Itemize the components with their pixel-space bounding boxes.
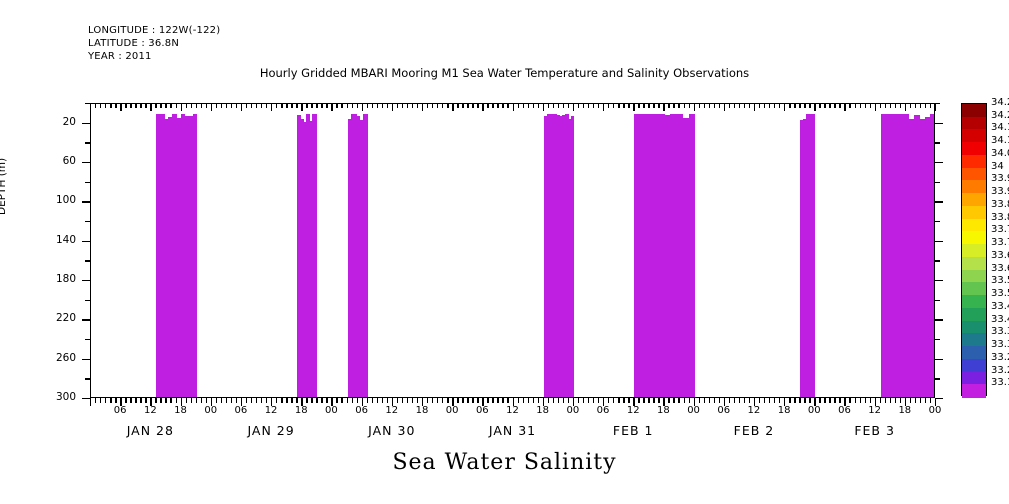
axis-tick <box>875 103 876 111</box>
axis-tick <box>568 398 569 403</box>
axis-tick <box>643 103 644 108</box>
axis-tick <box>326 103 327 108</box>
axis-tick <box>890 103 891 108</box>
axis-tick <box>613 398 614 403</box>
axis-tick <box>623 398 624 403</box>
axis-tick <box>553 103 554 108</box>
hour-tick-label: 18 <box>769 405 799 416</box>
axis-tick <box>849 103 850 108</box>
axis-tick <box>684 398 685 403</box>
axis-tick <box>85 300 90 301</box>
axis-tick <box>160 398 161 403</box>
axis-tick <box>809 398 810 403</box>
axis-tick <box>513 103 514 111</box>
axis-tick <box>437 398 438 403</box>
axis-tick <box>357 398 358 403</box>
plot-area <box>90 103 935 398</box>
colorbar-swatch <box>962 206 986 219</box>
colorbar-swatch <box>962 295 986 308</box>
depth-tick-label: 60 <box>36 155 76 167</box>
axis-tick <box>593 103 594 108</box>
axis-tick <box>870 103 871 108</box>
axis-tick <box>804 103 805 108</box>
latitude-label: LATITUDE : 36.8N <box>88 38 179 49</box>
axis-tick <box>417 103 418 108</box>
axis-tick <box>648 398 649 403</box>
axis-tick <box>407 398 408 403</box>
axis-tick <box>643 398 644 403</box>
axis-tick <box>538 398 539 403</box>
axis-tick <box>85 260 90 261</box>
axis-tick <box>291 103 292 108</box>
axis-tick <box>734 398 735 403</box>
axis-tick <box>231 398 232 403</box>
axis-tick <box>518 398 519 403</box>
hour-tick-label: 06 <box>588 405 618 416</box>
axis-tick <box>658 398 659 403</box>
axis-tick <box>844 103 845 111</box>
axis-tick <box>935 221 940 222</box>
colorbar-tick-label: 33.4 <box>991 314 1009 325</box>
hour-tick-label: 00 <box>196 405 226 416</box>
axis-tick <box>719 103 720 108</box>
axis-tick <box>105 398 106 403</box>
colorbar-swatch <box>962 104 986 117</box>
axis-tick <box>885 103 886 108</box>
axis-tick <box>794 103 795 108</box>
axis-tick <box>402 398 403 403</box>
colorbar-swatch <box>962 168 986 181</box>
colorbar-tick-label: 34.1 <box>991 135 1009 146</box>
axis-tick <box>613 103 614 108</box>
axis-tick <box>341 398 342 403</box>
axis-tick <box>729 103 730 108</box>
colorbar-tick-label: 34.15 <box>991 122 1009 133</box>
hour-tick-label: 12 <box>377 405 407 416</box>
axis-tick <box>930 103 931 108</box>
axis-tick <box>900 398 901 403</box>
axis-tick <box>890 398 891 403</box>
axis-tick <box>115 398 116 403</box>
axis-tick <box>82 201 90 202</box>
axis-tick <box>729 398 730 403</box>
depth-tick-label: 220 <box>36 312 76 324</box>
axis-tick <box>744 103 745 108</box>
axis-tick <box>915 398 916 403</box>
axis-tick <box>201 398 202 403</box>
axis-tick <box>352 103 353 108</box>
axis-tick <box>447 103 448 108</box>
axis-tick <box>347 398 348 403</box>
day-tick-label: JAN 30 <box>337 423 447 438</box>
axis-tick <box>170 103 171 108</box>
axis-tick <box>246 103 247 108</box>
axis-tick <box>367 398 368 403</box>
salinity-plot-page: LONGITUDE : 122W(-122) LATITUDE : 36.8N … <box>0 0 1009 504</box>
axis-tick <box>935 241 943 242</box>
axis-tick <box>140 103 141 108</box>
axis-tick <box>533 398 534 403</box>
axis-tick <box>291 398 292 403</box>
colorbar-tick-label: 33.6 <box>991 263 1009 274</box>
axis-tick <box>814 103 815 111</box>
axis-tick <box>749 398 750 403</box>
hour-tick-label: 12 <box>739 405 769 416</box>
hour-tick-label: 12 <box>860 405 890 416</box>
axis-tick <box>824 398 825 403</box>
axis-tick <box>548 398 549 403</box>
axis-tick <box>477 103 478 108</box>
hour-tick-label: 00 <box>679 405 709 416</box>
axis-tick <box>673 398 674 403</box>
axis-tick <box>603 103 604 111</box>
axis-tick <box>598 103 599 108</box>
axis-tick <box>155 398 156 403</box>
axis-tick <box>699 103 700 108</box>
colorbar-swatch <box>962 180 986 193</box>
axis-tick <box>663 103 664 111</box>
axis-tick <box>497 398 498 403</box>
axis-tick <box>739 398 740 403</box>
axis-tick <box>331 103 332 111</box>
axis-tick <box>85 103 90 104</box>
hour-tick-label: 18 <box>890 405 920 416</box>
axis-tick <box>492 103 493 108</box>
axis-tick <box>186 103 187 108</box>
axis-tick <box>794 398 795 403</box>
axis-tick <box>160 103 161 108</box>
day-tick-label: JAN 29 <box>216 423 326 438</box>
hour-tick-label: 18 <box>528 405 558 416</box>
axis-tick <box>925 103 926 108</box>
axis-tick <box>487 103 488 108</box>
axis-tick <box>578 103 579 108</box>
axis-tick <box>935 319 943 320</box>
axis-tick <box>130 103 131 108</box>
axis-tick <box>618 103 619 108</box>
axis-tick <box>196 103 197 108</box>
axis-tick <box>206 398 207 403</box>
axis-tick <box>100 103 101 108</box>
axis-tick <box>895 103 896 108</box>
axis-tick <box>598 398 599 403</box>
axis-tick <box>880 103 881 108</box>
axis-tick <box>799 103 800 108</box>
axis-tick <box>85 378 90 379</box>
axis-tick <box>769 103 770 108</box>
hour-tick-label: 18 <box>407 405 437 416</box>
axis-tick <box>668 103 669 108</box>
axis-tick <box>226 398 227 403</box>
depth-tick-label: 260 <box>36 352 76 364</box>
axis-tick <box>935 398 943 399</box>
axis-tick <box>125 103 126 108</box>
axis-tick <box>829 103 830 108</box>
axis-tick <box>387 398 388 403</box>
axis-tick <box>82 123 90 124</box>
axis-tick <box>266 398 267 403</box>
axis-tick <box>563 103 564 108</box>
axis-tick <box>241 103 242 111</box>
axis-tick <box>633 103 634 111</box>
axis-tick <box>296 103 297 108</box>
axis-tick <box>130 398 131 403</box>
axis-tick <box>855 103 856 108</box>
axis-tick <box>719 398 720 403</box>
axis-tick <box>221 103 222 108</box>
colorbar-tick-label: 33.95 <box>991 173 1009 184</box>
axis-tick <box>704 398 705 403</box>
axis-tick <box>528 103 529 108</box>
axis-tick <box>784 103 785 111</box>
axis-tick <box>865 398 866 403</box>
axis-tick <box>487 398 488 403</box>
hour-tick-label: 00 <box>799 405 829 416</box>
axis-tick <box>935 142 940 143</box>
axis-tick <box>608 103 609 108</box>
axis-tick <box>306 103 307 108</box>
axis-tick <box>432 398 433 403</box>
axis-tick <box>829 398 830 403</box>
axis-tick <box>82 359 90 360</box>
axis-tick <box>628 103 629 108</box>
axis-tick <box>739 103 740 108</box>
axis-tick <box>482 103 483 111</box>
axis-tick <box>819 103 820 108</box>
axis-tick <box>427 103 428 108</box>
axis-tick <box>316 103 317 108</box>
colorbar-swatch <box>962 244 986 257</box>
axis-tick <box>935 182 940 183</box>
axis-tick <box>432 103 433 108</box>
axis-tick <box>935 339 940 340</box>
axis-tick <box>860 398 861 403</box>
colorbar-tick-label: 34.2 <box>991 110 1009 121</box>
colorbar-swatch <box>962 333 986 346</box>
axis-tick <box>90 103 91 111</box>
axis-tick <box>377 398 378 403</box>
axis-tick <box>558 398 559 403</box>
hour-tick-label: 00 <box>437 405 467 416</box>
axis-tick <box>341 103 342 108</box>
axis-tick <box>417 398 418 403</box>
axis-tick <box>588 398 589 403</box>
heatmap-column <box>634 114 694 397</box>
axis-tick <box>935 300 940 301</box>
axis-tick <box>266 103 267 108</box>
axis-tick <box>834 398 835 403</box>
heatmap-column <box>800 114 815 397</box>
heatmap-canvas <box>91 104 934 397</box>
hour-tick-label: 06 <box>829 405 859 416</box>
axis-tick <box>135 398 136 403</box>
hour-tick-label: 18 <box>648 405 678 416</box>
colorbar-swatch <box>962 282 986 295</box>
axis-tick <box>377 103 378 108</box>
colorbar-swatch <box>962 308 986 321</box>
axis-tick <box>201 103 202 108</box>
axis-tick <box>221 398 222 403</box>
depth-tick-label: 100 <box>36 194 76 206</box>
axis-tick <box>935 162 943 163</box>
hour-tick-label: 18 <box>166 405 196 416</box>
day-tick-label: FEB 2 <box>699 423 809 438</box>
axis-tick <box>774 398 775 403</box>
axis-tick <box>462 103 463 108</box>
axis-tick <box>548 103 549 108</box>
axis-tick <box>296 398 297 403</box>
axis-tick <box>82 398 90 399</box>
axis-tick <box>311 398 312 403</box>
axis-tick <box>392 103 393 111</box>
axis-tick <box>819 398 820 403</box>
axis-tick <box>714 103 715 108</box>
colorbar-swatch <box>962 372 986 385</box>
axis-tick <box>326 398 327 403</box>
hour-tick-label: 06 <box>709 405 739 416</box>
axis-tick <box>880 398 881 403</box>
axis-tick <box>714 398 715 403</box>
axis-tick <box>155 103 156 108</box>
axis-tick <box>125 398 126 403</box>
depth-tick-label: 180 <box>36 273 76 285</box>
axis-tick <box>935 280 943 281</box>
axis-tick <box>673 103 674 108</box>
axis-tick <box>709 398 710 403</box>
hour-tick-label: 12 <box>256 405 286 416</box>
hour-tick-label: 12 <box>498 405 528 416</box>
axis-tick <box>140 398 141 403</box>
axis-tick <box>281 103 282 108</box>
axis-tick <box>85 142 90 143</box>
axis-tick <box>754 103 755 111</box>
axis-tick <box>387 103 388 108</box>
axis-tick <box>834 103 835 108</box>
axis-tick <box>724 103 725 111</box>
hour-tick-label: 06 <box>105 405 135 416</box>
axis-tick <box>588 103 589 108</box>
axis-tick <box>477 398 478 403</box>
hour-tick-label: 12 <box>618 405 648 416</box>
hour-tick-label: 06 <box>347 405 377 416</box>
axis-tick <box>935 260 940 261</box>
axis-tick <box>704 103 705 108</box>
axis-tick <box>367 103 368 108</box>
axis-tick <box>306 398 307 403</box>
axis-tick <box>236 398 237 403</box>
axis-tick <box>789 103 790 108</box>
axis-tick <box>870 398 871 403</box>
colorbar-tick-label: 33.25 <box>991 352 1009 363</box>
hour-tick-label: 18 <box>286 405 316 416</box>
axis-tick <box>558 103 559 108</box>
axis-tick <box>774 103 775 108</box>
axis-tick <box>749 103 750 108</box>
axis-tick <box>638 103 639 108</box>
axis-tick <box>120 103 121 111</box>
axis-tick <box>110 398 111 403</box>
axis-tick <box>447 398 448 403</box>
axis-tick <box>402 103 403 108</box>
axis-tick <box>910 103 911 108</box>
axis-tick <box>528 398 529 403</box>
heatmap-column <box>544 114 574 397</box>
axis-tick <box>523 398 524 403</box>
axis-tick <box>347 103 348 108</box>
axis-tick <box>82 280 90 281</box>
axis-tick <box>653 398 654 403</box>
axis-tick <box>638 398 639 403</box>
page-title: Hourly Gridded MBARI Mooring M1 Sea Wate… <box>0 66 1009 80</box>
colorbar-tick-label: 33.8 <box>991 212 1009 223</box>
axis-tick <box>905 103 906 111</box>
axis-tick <box>824 103 825 108</box>
colorbar-tick-label: 33.75 <box>991 224 1009 235</box>
colorbar-tick-label: 33.15 <box>991 377 1009 388</box>
colorbar-swatch <box>962 142 986 155</box>
axis-tick <box>412 103 413 108</box>
axis-tick <box>935 123 943 124</box>
axis-tick <box>95 103 96 108</box>
axis-tick <box>442 103 443 108</box>
axis-tick <box>860 103 861 108</box>
axis-tick <box>678 398 679 403</box>
axis-tick <box>568 103 569 108</box>
axis-tick <box>684 103 685 108</box>
depth-tick-label: 20 <box>36 116 76 128</box>
axis-tick <box>216 103 217 108</box>
axis-tick <box>538 103 539 108</box>
hour-tick-label: 06 <box>226 405 256 416</box>
axis-tick <box>668 398 669 403</box>
axis-tick <box>935 359 943 360</box>
axis-tick <box>497 103 498 108</box>
axis-tick <box>472 103 473 108</box>
axis-tick <box>170 398 171 403</box>
hour-tick-label: 06 <box>467 405 497 416</box>
axis-tick <box>145 103 146 108</box>
depth-tick-label: 300 <box>36 391 76 403</box>
axis-tick <box>759 398 760 403</box>
axis-tick <box>523 103 524 108</box>
axis-tick <box>165 103 166 108</box>
axis-tick <box>301 103 302 111</box>
axis-tick <box>311 103 312 108</box>
axis-tick <box>839 103 840 108</box>
axis-tick <box>678 103 679 108</box>
axis-tick <box>427 398 428 403</box>
colorbar-swatch <box>962 321 986 334</box>
axis-tick <box>82 319 90 320</box>
axis-tick <box>82 162 90 163</box>
axis-tick <box>150 103 151 111</box>
colorbar-swatch <box>962 257 986 270</box>
axis-tick <box>110 103 111 108</box>
day-tick-label: JAN 31 <box>458 423 568 438</box>
axis-tick <box>799 398 800 403</box>
axis-tick <box>336 103 337 108</box>
hour-tick-label: 00 <box>558 405 588 416</box>
heatmap-column <box>156 114 196 397</box>
axis-tick <box>935 201 943 202</box>
year-label: YEAR : 2011 <box>88 51 152 62</box>
axis-tick <box>502 398 503 403</box>
y-axis-title: DEPTH (m) <box>0 158 8 215</box>
axis-tick <box>196 398 197 403</box>
axis-tick <box>769 398 770 403</box>
hour-tick-label: 00 <box>920 405 950 416</box>
colorbar-tick-label: 33.3 <box>991 339 1009 350</box>
